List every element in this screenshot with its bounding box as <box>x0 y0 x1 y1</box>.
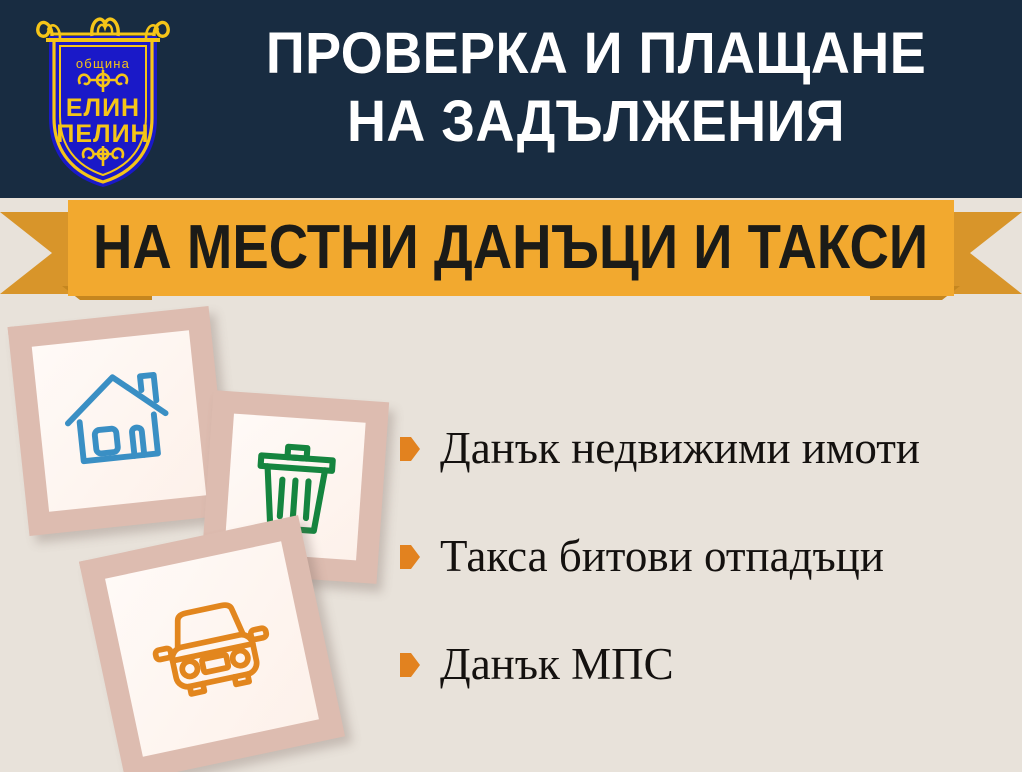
tax-type-list: Данък недвижими имоти Такса битови отпад… <box>400 420 1012 744</box>
list-item-label: Данък МПС <box>440 639 674 689</box>
subtitle-ribbon: НА МЕСТНИ ДАНЪЦИ И ТАКСИ <box>0 198 1022 308</box>
svg-text:община: община <box>76 56 130 71</box>
ribbon-body: НА МЕСТНИ ДАНЪЦИ И ТАКСИ <box>68 200 954 296</box>
svg-text:ЕЛИН: ЕЛИН <box>66 94 140 122</box>
list-item[interactable]: Такса битови отпадъци <box>400 528 1012 584</box>
page-title: ПРОВЕРКА И ПЛАЩАНЕ НА ЗАДЪЛЖЕНИЯ <box>186 20 1006 156</box>
list-item-label: Такса битови отпадъци <box>440 531 884 581</box>
coat-of-arms-icon: община ЕЛИН ПЕЛИН <box>32 6 174 192</box>
list-item-label: Данък недвижими имоти <box>440 423 920 473</box>
triangle-right-icon <box>400 545 420 569</box>
ribbon-label: НА МЕСТНИ ДАНЪЦИ И ТАКСИ <box>93 216 928 280</box>
stamp-paper <box>32 330 206 512</box>
page-title-line-2: НА ЗАДЪЛЖЕНИЯ <box>215 88 978 156</box>
header-banner: община ЕЛИН ПЕЛИН <box>0 0 1022 198</box>
stamp-card-car <box>79 515 345 772</box>
list-item[interactable]: Данък недвижими имоти <box>400 420 1012 476</box>
svg-text:ПЕЛИН: ПЕЛИН <box>56 120 149 148</box>
list-item[interactable]: Данък МПС <box>400 636 1012 692</box>
page-title-line-1: ПРОВЕРКА И ПЛАЩАНЕ <box>215 20 978 88</box>
house-icon <box>55 361 184 481</box>
stamp-paper <box>105 541 319 756</box>
poster-root: община ЕЛИН ПЕЛИН <box>0 0 1022 772</box>
car-icon <box>140 585 283 713</box>
triangle-right-icon <box>400 653 420 677</box>
stamp-card-house <box>8 306 231 536</box>
triangle-right-icon <box>400 437 420 461</box>
